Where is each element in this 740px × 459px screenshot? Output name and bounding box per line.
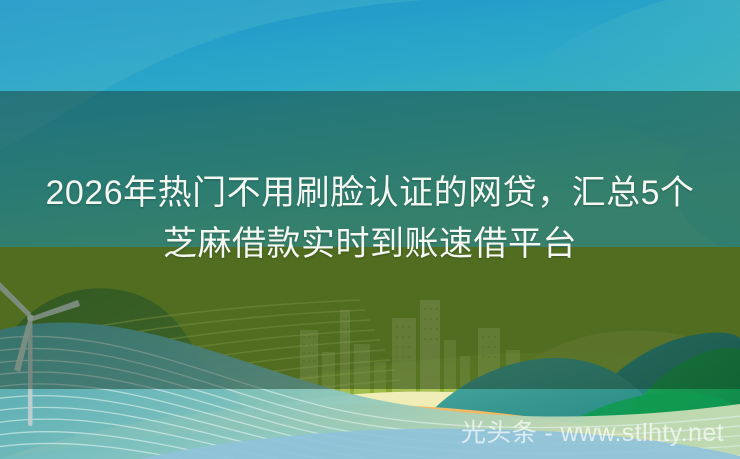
site-watermark: 光头条 - www.stlhty.net (0, 418, 740, 448)
banner-headline: 2026年热门不用刷脸认证的网贷，汇总5个芝麻借款实时到账速借平台 (0, 168, 740, 270)
turbine-hub (27, 315, 34, 322)
promo-banner: 2026年热门不用刷脸认证的网贷，汇总5个芝麻借款实时到账速借平台 光头条 - … (0, 0, 740, 459)
